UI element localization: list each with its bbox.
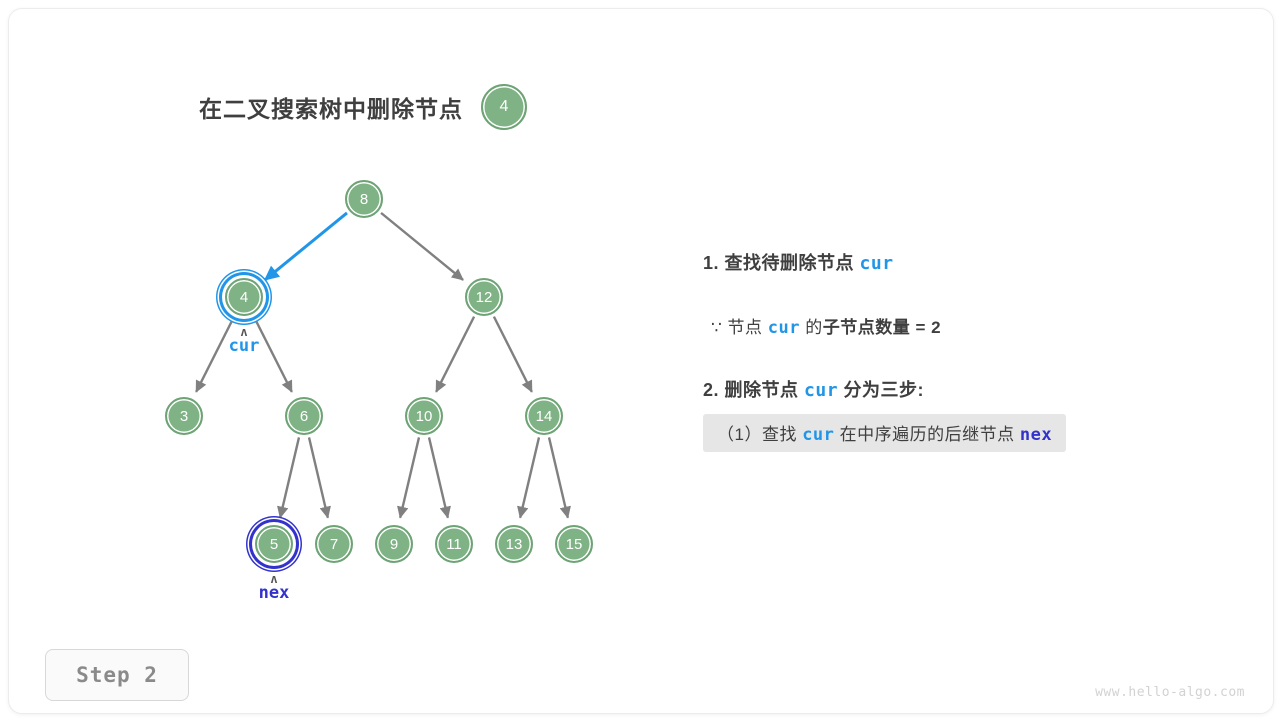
- reason-bold-text: 子节点数量: [823, 318, 911, 337]
- reason-mid: 的: [800, 318, 823, 337]
- tree-node-value: 13: [506, 537, 523, 552]
- tree-node-value: 7: [330, 537, 338, 552]
- tree-edge: [436, 317, 474, 392]
- reason-value: 2: [931, 318, 941, 337]
- tree-node: 10: [405, 397, 443, 435]
- tree-node-value: 3: [180, 409, 188, 424]
- tree-edge: [494, 317, 532, 392]
- tree-edge: [381, 213, 463, 280]
- tree-edge: [265, 213, 347, 280]
- substep-1-index: （1）查找: [717, 425, 802, 444]
- tree-node: 8: [345, 180, 383, 218]
- tree-node: 11: [435, 525, 473, 563]
- figure-card: 在二叉搜索树中删除节点 4 8412361014579111315 ʌcurʌn…: [8, 8, 1274, 714]
- tree-node: 4: [225, 278, 263, 316]
- tree-node: 6: [285, 397, 323, 435]
- reason-equals: =: [910, 318, 931, 337]
- tree-node-value: 12: [476, 290, 493, 305]
- tree-node: 3: [165, 397, 203, 435]
- tree-edge: [549, 437, 568, 517]
- step-badge-label: Step 2: [76, 663, 158, 687]
- tree-node: 12: [465, 278, 503, 316]
- step-1-var-cur: cur: [860, 253, 894, 274]
- reason-var-cur: cur: [768, 318, 800, 338]
- tree-node-value: 5: [270, 537, 278, 552]
- binary-search-tree: 8412361014579111315 ʌcurʌnex: [9, 9, 669, 669]
- pointer-label-text: cur: [229, 336, 260, 356]
- tree-node-value: 11: [446, 537, 462, 552]
- tree-edge: [254, 317, 292, 392]
- tree-edge: [429, 437, 448, 517]
- pointer-label-text: nex: [259, 583, 290, 603]
- pointer-label-nex: ʌnex: [259, 574, 290, 603]
- step-2-suffix: 分为三步:: [838, 380, 924, 400]
- substep-1-var-nex: nex: [1020, 425, 1052, 445]
- step-1-line: 1. 查找待删除节点 cur: [703, 249, 1233, 275]
- tree-node-value: 9: [390, 537, 398, 552]
- step-2-line: 2. 删除节点 cur 分为三步:: [703, 376, 1233, 402]
- tree-node: 9: [375, 525, 413, 563]
- tree-edge: [520, 437, 539, 517]
- tree-node-value: 8: [360, 192, 368, 207]
- tree-edge: [280, 437, 299, 517]
- tree-node: 15: [555, 525, 593, 563]
- tree-node: 13: [495, 525, 533, 563]
- substep-1-line: （1）查找 cur 在中序遍历的后继节点 nex: [703, 414, 1066, 452]
- tree-node: 7: [315, 525, 353, 563]
- step-2-var-cur: cur: [804, 380, 838, 401]
- step-2-block: 2. 删除节点 cur 分为三步: （1）查找 cur 在中序遍历的后继节点 n…: [703, 376, 1233, 452]
- substep-1-var-cur: cur: [802, 425, 834, 445]
- tree-node-value: 14: [536, 409, 553, 424]
- tree-node: 5: [255, 525, 293, 563]
- footer-watermark: www.hello-algo.com: [1095, 685, 1245, 700]
- step-badge: Step 2: [45, 649, 189, 701]
- explanation-panel: 1. 查找待删除节点 cur ∵ 节点 cur 的子节点数量 = 2 2. 删除…: [703, 249, 1233, 452]
- tree-node-value: 10: [416, 409, 433, 424]
- tree-node: 14: [525, 397, 563, 435]
- pointer-label-cur: ʌcur: [229, 327, 260, 356]
- tree-edges: [9, 9, 669, 669]
- reason-prefix: 节点: [728, 318, 768, 337]
- tree-node-value: 4: [240, 290, 248, 305]
- substep-1-mid: 在中序遍历的后继节点: [834, 425, 1019, 444]
- tree-edge: [400, 437, 419, 517]
- reason-symbol: ∵: [711, 318, 728, 337]
- tree-node-value: 6: [300, 409, 308, 424]
- tree-edge: [309, 437, 328, 517]
- step-1-prefix: 1. 查找待删除节点: [703, 253, 860, 273]
- tree-node-value: 15: [566, 537, 583, 552]
- step-2-prefix: 2. 删除节点: [703, 380, 804, 400]
- reason-line: ∵ 节点 cur 的子节点数量 = 2: [703, 313, 1233, 338]
